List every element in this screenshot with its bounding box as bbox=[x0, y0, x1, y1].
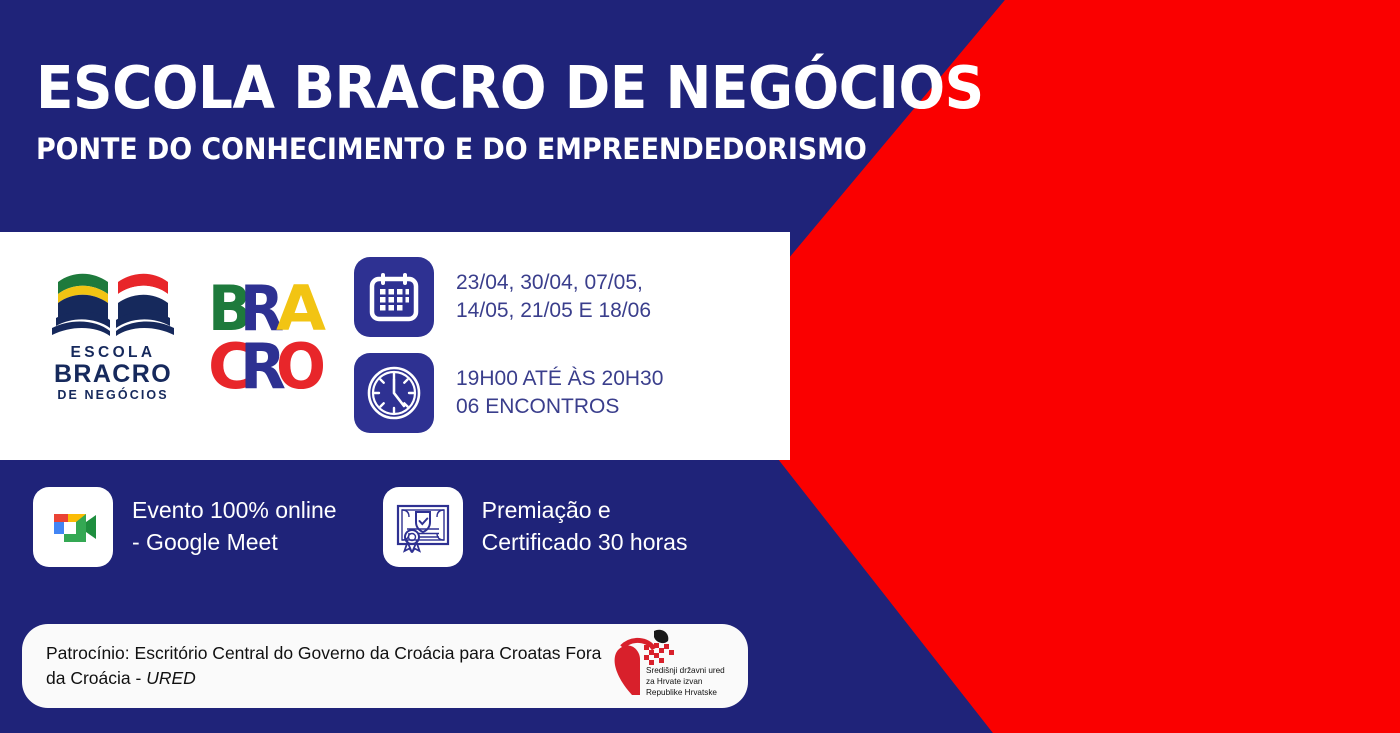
logo-group: ESCOLA BRACRO DE NEGÓCIOS B R A C R O bbox=[42, 268, 330, 401]
event-photo bbox=[1108, 0, 1400, 733]
info-row-dates: 23/04, 30/04, 07/05, 14/05, 21/05 E 18/0… bbox=[354, 257, 663, 337]
photo-window bbox=[1272, 0, 1400, 110]
info-row-time: 19H00 ATÉ ÀS 20H30 06 ENCONTROS bbox=[354, 353, 663, 433]
photo-person-head bbox=[1225, 220, 1251, 268]
bracro-wordmark-logo: B R A C R O bbox=[210, 276, 330, 394]
feature-list: Evento 100% online - Google Meet bbox=[33, 487, 687, 567]
google-meet-icon bbox=[44, 498, 102, 556]
photo-person bbox=[1324, 227, 1379, 454]
page-title: ESCOLA BRACRO DE NEGÓCIOS bbox=[36, 58, 799, 118]
sponsor-acronym: URED bbox=[146, 668, 196, 688]
event-banner: ESCOLA BRACRO DE NEGÓCIOS PONTE DO CONHE… bbox=[0, 0, 1400, 733]
feature-certificate: Premiação e Certificado 30 horas bbox=[383, 487, 688, 567]
clock-icon-tile bbox=[354, 353, 434, 433]
calendar-icon bbox=[367, 270, 421, 324]
certificate-icon bbox=[394, 498, 452, 556]
escola-bracro-logo: ESCOLA BRACRO DE NEGÓCIOS bbox=[42, 268, 184, 401]
certificate-icon-tile bbox=[383, 487, 463, 567]
photo-poster bbox=[1114, 110, 1164, 286]
school-name-line2: BRACRO bbox=[42, 362, 184, 387]
photo-person bbox=[1312, 418, 1388, 733]
svg-text:O: O bbox=[276, 330, 326, 394]
photo-person-head bbox=[1108, 418, 1140, 477]
calendar-icon-tile bbox=[354, 257, 434, 337]
schedule-info-list: 23/04, 30/04, 07/05, 14/05, 21/05 E 18/0… bbox=[354, 257, 663, 449]
sponsor-logo-line1: Središnji državni ured bbox=[646, 666, 725, 675]
photo-person bbox=[1266, 242, 1316, 455]
google-meet-icon-tile bbox=[33, 487, 113, 567]
photo-person-head bbox=[1277, 205, 1303, 253]
sponsor-label-text: Patrocínio: Escritório Central do Govern… bbox=[46, 643, 601, 688]
info-time-text: 19H00 ATÉ ÀS 20H30 06 ENCONTROS bbox=[456, 365, 663, 421]
page-subtitle: PONTE DO CONHECIMENTO E DO EMPREENDEDORI… bbox=[36, 132, 799, 166]
photo-person bbox=[1213, 249, 1263, 454]
photo-person-head bbox=[1339, 191, 1368, 242]
school-name-line3: DE NEGÓCIOS bbox=[42, 389, 184, 402]
feature-certificate-text: Premiação e Certificado 30 horas bbox=[482, 495, 688, 558]
school-name-line1: ESCOLA bbox=[42, 345, 184, 361]
banner-header: ESCOLA BRACRO DE NEGÓCIOS PONTE DO CONHE… bbox=[36, 58, 856, 166]
feature-online-text: Evento 100% online - Google Meet bbox=[132, 495, 337, 558]
sponsor-label: Patrocínio: Escritório Central do Govern… bbox=[46, 641, 602, 692]
sponsor-bar: Patrocínio: Escritório Central do Govern… bbox=[22, 624, 748, 708]
school-name-block: ESCOLA BRACRO DE NEGÓCIOS bbox=[42, 345, 184, 401]
open-book-icon bbox=[52, 268, 174, 338]
feature-online: Evento 100% online - Google Meet bbox=[33, 487, 337, 567]
croatian-government-heart-icon: Središnji državni ured za Hrvate izvan R… bbox=[602, 629, 734, 703]
info-dates-text: 23/04, 30/04, 07/05, 14/05, 21/05 E 18/0… bbox=[456, 269, 651, 325]
sponsor-logo-line3: Republike Hrvatske bbox=[646, 688, 717, 697]
clock-icon bbox=[365, 364, 423, 422]
sponsor-logo-line2: za Hrvate izvan bbox=[646, 677, 703, 686]
